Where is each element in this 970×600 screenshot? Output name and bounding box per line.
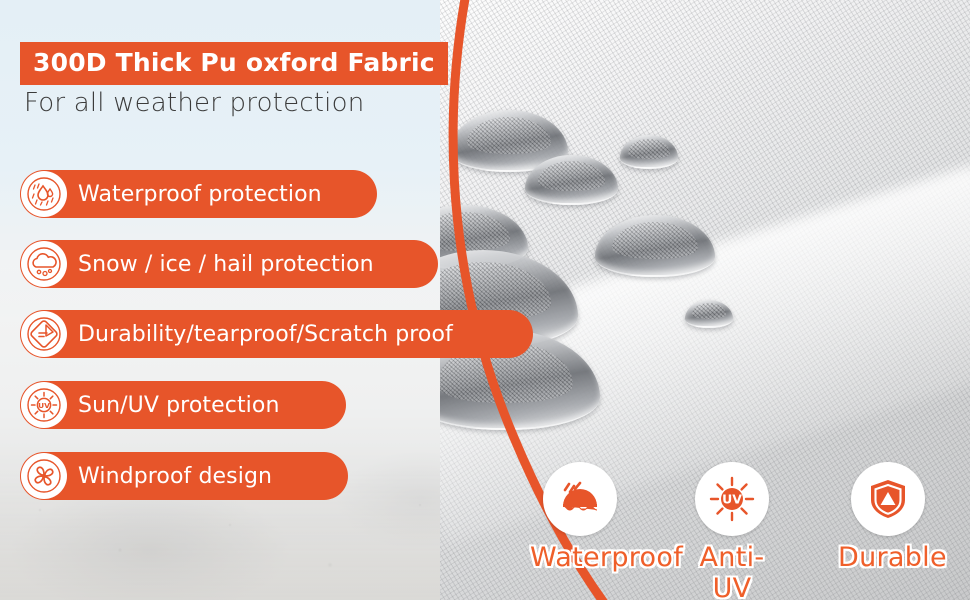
feature-label: Snow / ice / hail protection (78, 252, 374, 277)
feature-label: Sun/UV protection (78, 393, 280, 418)
feature-pill-windproof[interactable]: Windproof design (20, 452, 348, 500)
feature-label: Windproof design (78, 464, 272, 489)
badge-anti-uv[interactable]: UV Anti-UV (682, 462, 782, 600)
feature-pill-uv[interactable]: UV Sun/UV protection (20, 381, 346, 429)
umbrella-rain-icon (543, 462, 617, 536)
badge-label: Anti-UV (682, 542, 782, 600)
svg-text:UV: UV (38, 401, 50, 410)
badge-label: Durable (838, 542, 938, 573)
badge-label: Waterproof (530, 542, 630, 573)
feature-label: Waterproof protection (78, 182, 322, 207)
feature-pill-waterproof[interactable]: Waterproof protection (20, 170, 377, 218)
rain-drop-icon (21, 171, 67, 217)
product-feature-banner: 300D Thick Pu oxford Fabric For all weat… (0, 0, 970, 600)
shield-icon (851, 462, 925, 536)
tear-proof-icon (21, 311, 67, 357)
badge-waterproof[interactable]: Waterproof (530, 462, 630, 573)
fan-wind-icon (21, 453, 67, 499)
feature-pill-durability[interactable]: Durability/tearproof/Scratch proof (20, 310, 533, 358)
badge-durable[interactable]: Durable (838, 462, 938, 573)
svg-text:UV: UV (722, 492, 742, 507)
sun-uv-icon: UV (695, 462, 769, 536)
snow-cloud-icon (21, 241, 67, 287)
trust-badge-row: Waterproof UV (530, 462, 970, 582)
feature-label: Durability/tearproof/Scratch proof (78, 322, 453, 347)
feature-pill-snow[interactable]: Snow / ice / hail protection (20, 240, 438, 288)
page-title: 300D Thick Pu oxford Fabric (20, 42, 448, 85)
page-subtitle: For all weather protection (24, 88, 364, 118)
sun-uv-icon: UV (21, 382, 67, 428)
